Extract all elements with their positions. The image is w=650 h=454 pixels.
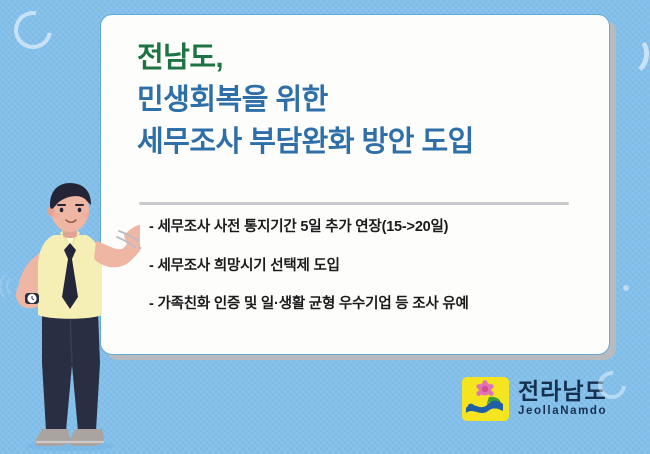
jeollanamdo-logo: 전라남도 JeollaNamdo <box>462 377 607 421</box>
headline-line-1: 전남도, <box>137 37 587 79</box>
page-title: 전남도, 민생회복을 위한 세무조사 부담완화 방안 도입 <box>137 37 587 163</box>
poster-canvas: 전남도, 민생회복을 위한 세무조사 부담완화 방안 도입 - 세무조사 사전 … <box>0 0 650 454</box>
logo-title-en: JeollaNamdo <box>518 406 607 418</box>
list-item: - 세무조사 희망시기 선택제 도입 <box>149 259 594 274</box>
list-item: - 가족친화 인증 및 일·생활 균형 우수기업 등 조사 유예 <box>149 297 594 312</box>
title-divider <box>139 202 569 205</box>
logo-text: 전라남도 JeollaNamdo <box>518 380 607 418</box>
bullet-list: - 세무조사 사전 통지기간 5일 추가 연장(15->20일) - 세무조사 … <box>149 220 594 336</box>
logo-title-ko: 전라남도 <box>518 380 607 403</box>
dot-icon-right <box>623 285 629 291</box>
crescent-icon-top-right <box>616 34 650 76</box>
illustration-businessman <box>0 183 140 454</box>
headline-line-2: 민생회복을 위한 <box>137 79 587 121</box>
motion-lines-icon <box>113 225 145 253</box>
arc-icon-top-left <box>7 4 60 57</box>
list-item: - 세무조사 사전 통지기간 5일 추가 연장(15->20일) <box>149 220 594 235</box>
logo-mark-icon <box>462 377 509 421</box>
headline-line-3: 세무조사 부담완화 방안 도입 <box>137 121 587 163</box>
content-card: 전남도, 민생회복을 위한 세무조사 부담완화 방안 도입 - 세무조사 사전 … <box>100 14 610 355</box>
